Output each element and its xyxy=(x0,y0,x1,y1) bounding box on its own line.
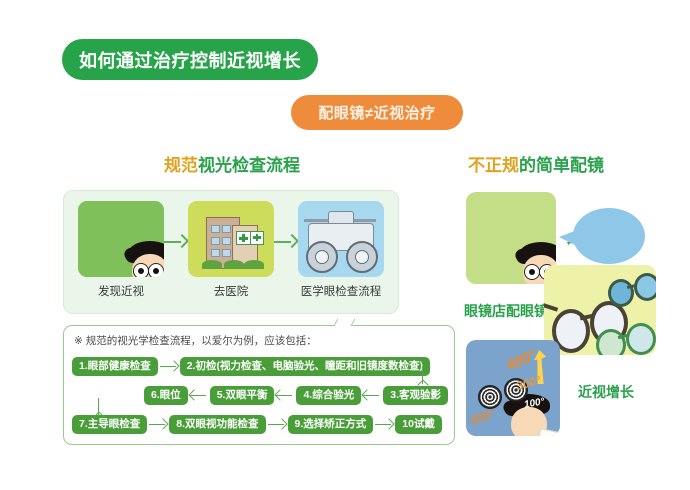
degree-value: 200° xyxy=(468,407,496,428)
step-arrow-left xyxy=(361,390,383,402)
detail-row-1: 1.眼部健康检查 2.初检(视力检查、电脑验光、瞳距和旧镜度数检查) xyxy=(64,352,456,381)
heading-left-main: 视光检查流程 xyxy=(198,156,300,175)
step-chip[interactable]: 2.初检(视力检查、电脑验光、瞳距和旧镜度数检查) xyxy=(180,357,430,377)
flow-detail-panel: ※ 规范的视光学检查流程，以爱尔为例，应该包括： 1.眼部健康检查 2.初检(视… xyxy=(63,325,455,445)
step-arrow-right xyxy=(266,419,288,431)
myopia-growth-card: 400° 300° 100° 200° xyxy=(466,340,560,436)
flow-card-medical-eye-exam xyxy=(298,201,384,277)
flow-label-3: 医学眼检查流程 xyxy=(298,283,384,299)
step-chip[interactable]: 8.双眼视功能检查 xyxy=(169,415,265,435)
infographic-page: 如何通过治疗控制近视增长 配眼镜≠近视治疗 规范视光检查流程 不正规的简单配镜 xyxy=(0,0,690,490)
step-arrow-right xyxy=(158,361,180,373)
step-arrow-left xyxy=(188,390,210,402)
flow-card-go-hospital xyxy=(188,201,274,277)
step-chip[interactable]: 6.眼位 xyxy=(144,386,188,406)
flow-label-1: 发现近视 xyxy=(78,283,164,299)
step-arrow-left xyxy=(274,390,296,402)
flow-arrow-1 xyxy=(164,232,188,252)
flow-step-2: 去医院 xyxy=(188,201,274,299)
flow-row: 发现近视 xyxy=(64,201,398,299)
heading-right-main: 的简单配镜 xyxy=(519,156,604,175)
step-chip[interactable]: 4.综合验光 xyxy=(296,386,361,406)
growth-label: 近视增长 xyxy=(578,382,634,402)
step-chip[interactable]: 9.选择矫正方式 xyxy=(288,415,374,435)
section-heading-left: 规范视光检查流程 xyxy=(164,151,300,176)
standard-flow-panel: 发现近视 xyxy=(63,190,399,314)
flow-card-discover-myopia xyxy=(78,201,164,277)
subtitle-text: 配眼镜≠近视治疗 xyxy=(318,102,435,123)
step-arrow-right xyxy=(373,419,395,431)
flow-step-3: 医学眼检查流程 xyxy=(298,201,384,299)
heading-left-accent: 规范 xyxy=(164,156,198,175)
shop-label: 眼镜店配眼镜 xyxy=(464,301,548,321)
heading-right-accent: 不正规 xyxy=(468,156,519,175)
degree-value: 400° xyxy=(504,347,539,374)
shop-boy-card xyxy=(466,192,556,284)
detail-row-2: 6.眼位 5.双眼平衡 4.综合验光 3.客观验影 xyxy=(64,381,456,410)
step-chip[interactable]: 5.双眼平衡 xyxy=(210,386,275,406)
main-title-pill: 如何通过治疗控制近视增长 xyxy=(62,39,318,80)
detail-row-3: 7.主导眼检查 8.双眼视功能检查 9.选择矫正方式 10试戴 xyxy=(64,410,456,439)
degree-value: 300° xyxy=(515,373,543,393)
flow-step-1: 发现近视 xyxy=(78,201,164,299)
eyeglasses-card xyxy=(544,265,656,355)
panel-pointer-notch xyxy=(333,317,356,326)
spiral-eye-left xyxy=(478,385,502,409)
flow-arrow-2 xyxy=(274,232,298,252)
step-chip[interactable]: 10试戴 xyxy=(395,415,442,435)
step-chip[interactable]: 1.眼部健康检查 xyxy=(72,357,158,377)
flow-label-2: 去医院 xyxy=(188,283,274,299)
section-heading-right: 不正规的简单配镜 xyxy=(468,151,604,176)
detail-note-text: ※ 规范的视光学检查流程，以爱尔为例，应该包括： xyxy=(74,333,317,348)
bubble-mark: ≠ xyxy=(567,234,574,248)
main-title-text: 如何通过治疗控制近视增长 xyxy=(79,47,301,73)
step-chip[interactable]: 3.客观验影 xyxy=(383,386,448,406)
speech-bubble: ≠ xyxy=(573,208,645,264)
subtitle-pill: 配眼镜≠近视治疗 xyxy=(291,95,463,130)
step-chip[interactable]: 7.主导眼检查 xyxy=(72,415,147,435)
step-arrow-right xyxy=(147,419,169,431)
detail-step-rows: 1.眼部健康检查 2.初检(视力检查、电脑验光、瞳距和旧镜度数检查) 6.眼位 … xyxy=(64,352,456,439)
